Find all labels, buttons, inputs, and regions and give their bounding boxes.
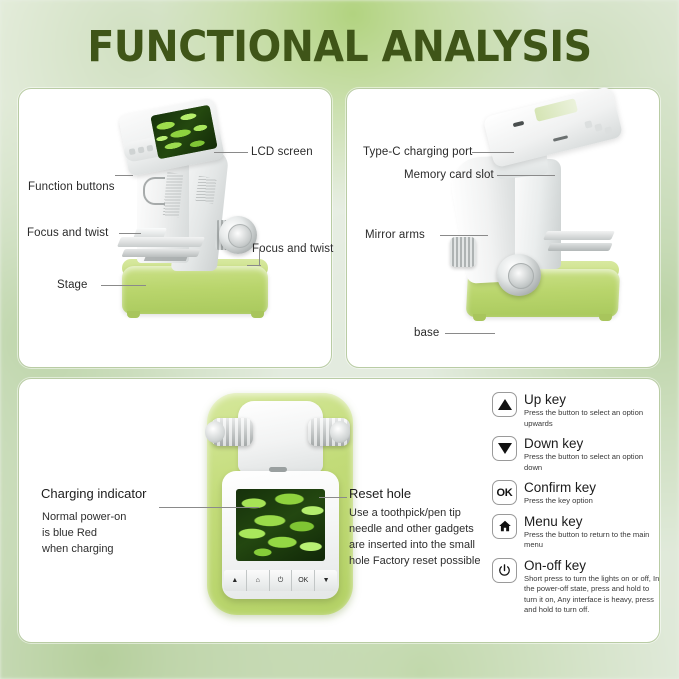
text-reset-hole-body: Use a toothpick/pen tip needle and other…	[349, 505, 480, 569]
legend-row-on-off-key: On-off key Short press to turn the light…	[492, 558, 662, 616]
panel-side-view: LCD screen Function buttons Focus and tw…	[18, 88, 332, 368]
up-triangle-icon[interactable]	[492, 392, 517, 417]
ok-icon[interactable]: OK	[492, 480, 517, 505]
base-foot-left	[127, 311, 140, 318]
leader-focus-twist-right-v	[259, 249, 260, 265]
green-base	[122, 266, 268, 314]
device-power-button[interactable]: ⏻	[270, 570, 293, 591]
legend-title-up-key: Up key	[524, 392, 662, 407]
panel-rear-view: Type-C charging port Memory card slot Mi…	[346, 88, 660, 368]
focus-knob-cap-left	[205, 421, 225, 443]
focus-grip	[143, 177, 165, 205]
arm-print-text	[195, 176, 216, 204]
legend-title-on-off-key: On-off key	[524, 558, 662, 573]
label-type-c-port: Type-C charging port	[363, 146, 472, 158]
device-button-bar: ▲ ⌂ ⏻ OK ▼	[224, 570, 337, 591]
lcd-screen-display	[236, 489, 325, 561]
focus-knob-left	[450, 237, 476, 267]
legend-desc-up-key: Press the button to select an option upw…	[524, 408, 662, 429]
page-title: FUNCTIONAL ANALYSIS	[27, 22, 652, 72]
text-charging-indicator-body: Normal power-on is blue Red when chargin…	[42, 509, 126, 557]
label-focus-twist-left: Focus and twist	[27, 227, 108, 239]
device-home-button[interactable]: ⌂	[247, 570, 270, 591]
stage-plate	[543, 231, 615, 240]
key-legend: Up key Press the button to select an opt…	[492, 392, 662, 623]
leader-focus-twist-right	[247, 265, 261, 266]
label-function-buttons: Function buttons	[28, 181, 115, 193]
legend-title-confirm-key: Confirm key	[524, 480, 662, 495]
label-stage: Stage	[57, 279, 88, 291]
stage-lower-plate	[121, 249, 200, 257]
legend-desc-on-off-key: Short press to turn the lights on or off…	[524, 574, 662, 616]
leader-function-buttons	[115, 175, 133, 176]
device-down-button[interactable]: ▼	[315, 570, 337, 591]
power-icon[interactable]	[492, 558, 517, 583]
label-reset-hole: Reset hole	[349, 486, 411, 501]
down-triangle-icon[interactable]	[492, 436, 517, 461]
legend-desc-menu-key: Press the button to return to the main m…	[524, 530, 662, 551]
device-ok-button[interactable]: OK	[292, 570, 315, 591]
legend-title-menu-key: Menu key	[524, 514, 662, 529]
label-lcd-screen: LCD screen	[251, 146, 313, 158]
legend-title-down-key: Down key	[524, 436, 662, 451]
device-up-button[interactable]: ▲	[224, 570, 247, 591]
label-mirror-arms: Mirror arms	[365, 229, 425, 241]
stage-plate	[117, 237, 205, 247]
microscopy-image	[236, 489, 325, 561]
legend-desc-confirm-key: Press the key option	[524, 496, 662, 507]
leader-focus-twist-left	[119, 233, 141, 234]
label-charging-indicator: Charging indicator	[41, 486, 147, 501]
label-memory-card-slot: Memory card slot	[404, 169, 494, 181]
leader-reset-hole	[319, 497, 347, 498]
home-icon[interactable]	[492, 514, 517, 539]
focus-knob-cap-right	[330, 421, 350, 443]
legend-row-down-key: Down key Press the button to select an o…	[492, 436, 662, 473]
leader-memory-card-slot	[497, 175, 555, 176]
ok-icon-label: OK	[497, 487, 513, 499]
label-focus-twist-right: Focus and twist	[252, 243, 333, 255]
leader-stage	[101, 285, 146, 286]
leader-lcd-screen	[214, 152, 248, 153]
legend-row-confirm-key: OK Confirm key Press the key option	[492, 480, 662, 507]
base-foot-left	[473, 314, 486, 321]
stage-lower-plate	[547, 243, 613, 251]
leader-type-c-port	[472, 152, 514, 153]
leader-mirror-arms	[440, 235, 488, 236]
legend-row-menu-key: Menu key Press the button to return to t…	[492, 514, 662, 551]
label-base: base	[414, 327, 439, 339]
base-foot-right	[599, 314, 612, 321]
focus-knob-front	[497, 254, 541, 296]
legend-row-up-key: Up key Press the button to select an opt…	[492, 392, 662, 429]
leader-base	[445, 333, 495, 334]
reset-hole-opening	[269, 467, 287, 472]
legend-desc-down-key: Press the button to select an option dow…	[524, 452, 662, 473]
base-foot-right	[251, 311, 264, 318]
leader-charging-indicator	[159, 507, 259, 508]
